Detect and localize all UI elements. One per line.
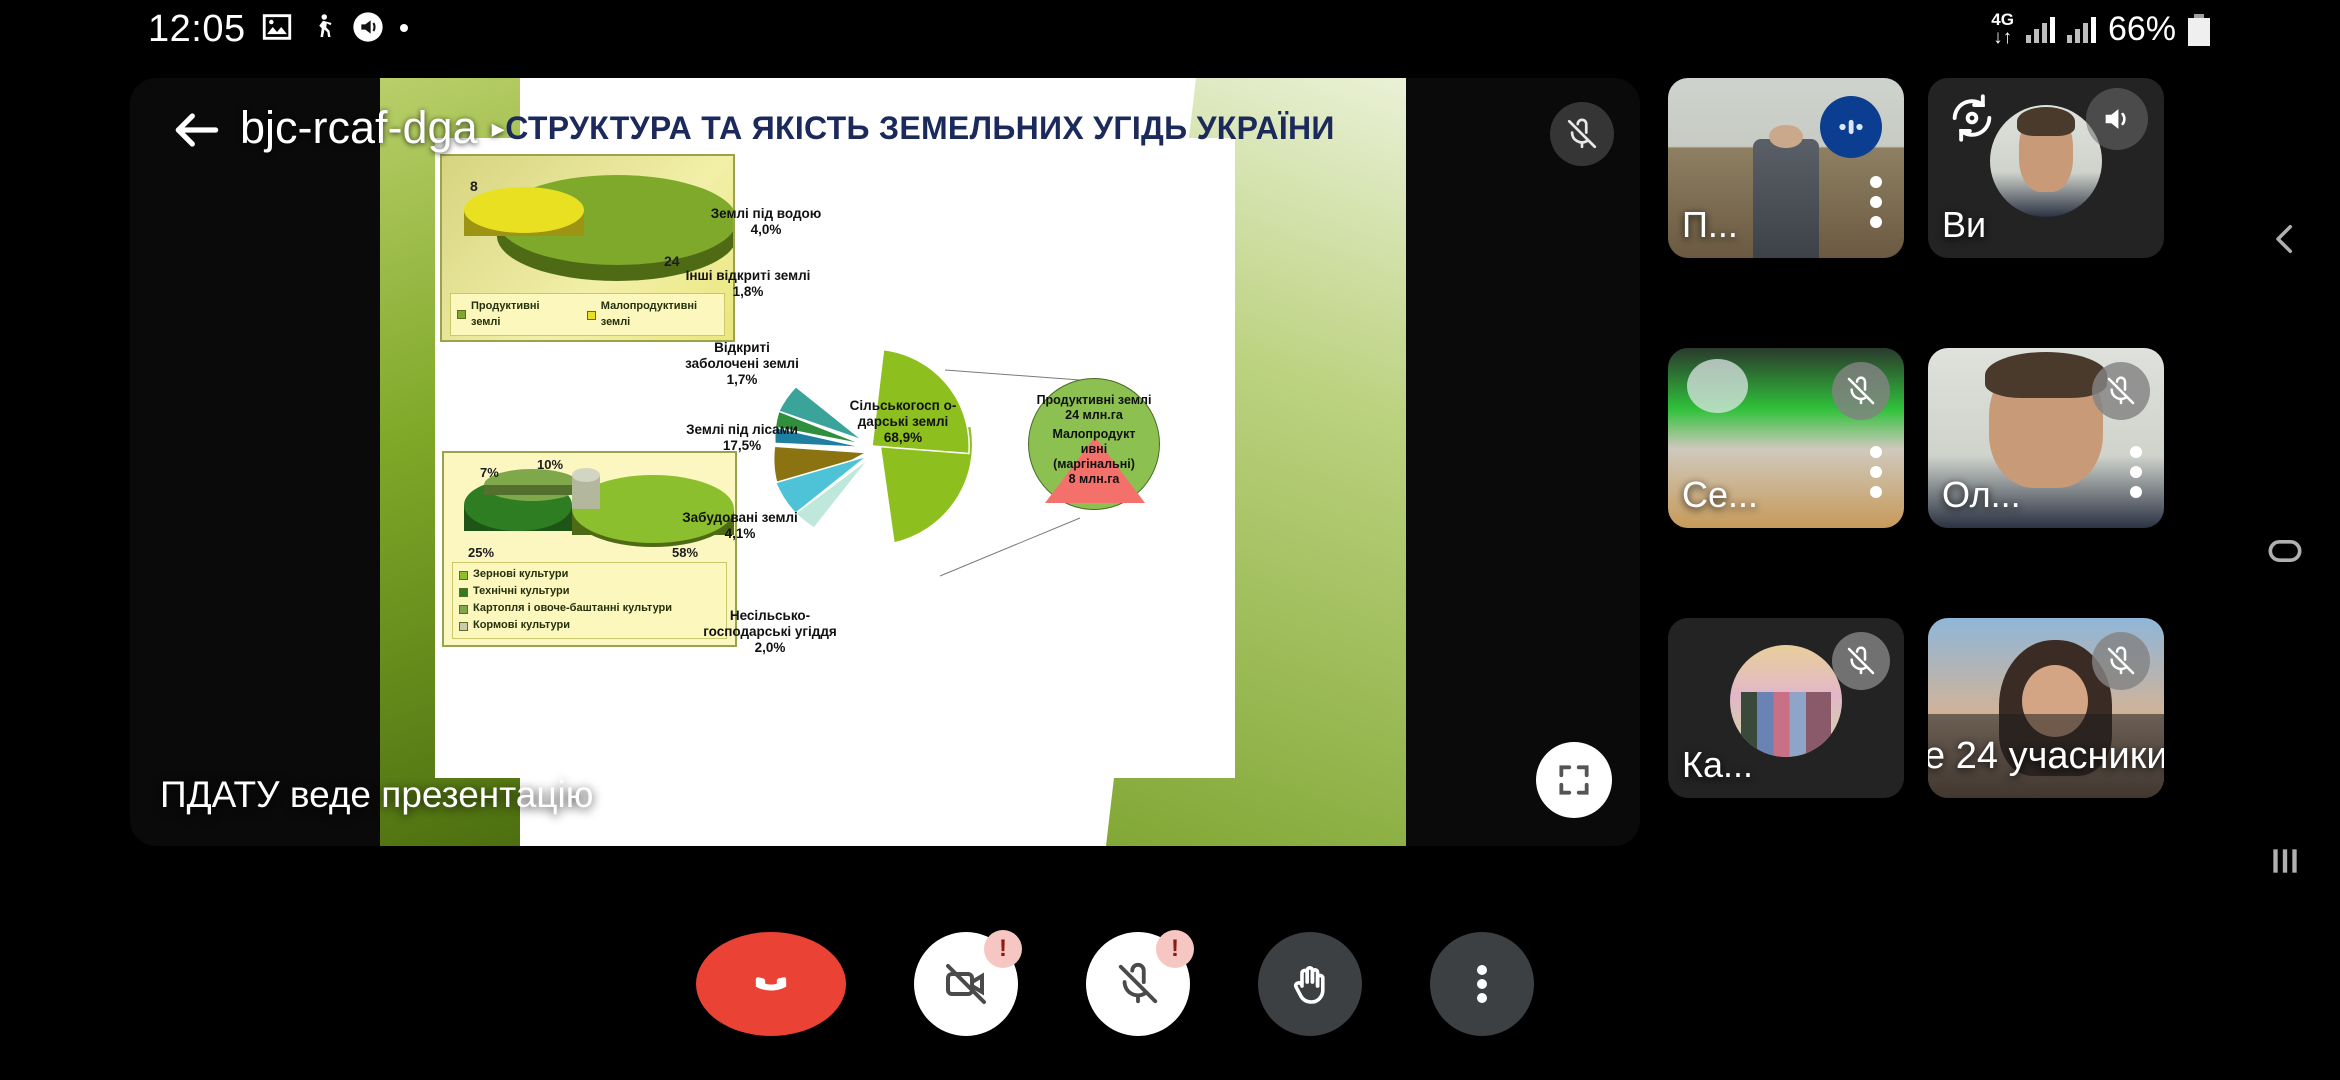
chart1-value-high: 24 (664, 253, 680, 269)
chart-productive-lands: 8 24 Продуктивні землі Малопродуктивні з… (440, 154, 735, 342)
legend-swatch (459, 622, 468, 631)
stage-mic-off-icon (1550, 102, 1614, 166)
callout-marginal: Малопродукт ивні (маргінальні) 8 млн.га (1029, 427, 1159, 487)
status-bar-right: 4G ↓↑ 66% (1991, 10, 2210, 49)
callout-marginal-l2: ивні (1081, 442, 1107, 456)
callout-marginal-value: 8 млн.га (1069, 472, 1120, 486)
call-controls: ! ! (0, 932, 2230, 1036)
pie-label-text: Несільсько-господарські угіддя (703, 608, 837, 639)
more-options-button[interactable] (1430, 932, 1534, 1036)
callout-circle: Продуктивні землі 24 млн.га Малопродукт … (1028, 378, 1160, 510)
slide-title: СТРУКТУРА ТА ЯКІСТЬ ЗЕМЕЛЬНИХ УГІДЬ УКРА… (440, 110, 1400, 147)
participant-name: Ол... (1942, 474, 2021, 516)
running-person-icon (308, 10, 338, 49)
mic-warning-badge: ! (1156, 930, 1194, 968)
nav-back-icon[interactable] (2254, 208, 2316, 270)
participant-grid: П... Ви Се... (1668, 78, 2200, 868)
pie-label-value: 1,8% (733, 284, 764, 299)
callout-productive: Продуктивні землі 24 млн.га (1029, 393, 1159, 423)
chart2-legend: Зернові культури Технічні культури Карто… (452, 562, 727, 639)
signal-bars-sim1 (2026, 17, 2055, 43)
pie-label-text: Сільськогосп о-дарські землі (850, 398, 957, 429)
legend-item: Зернові культури (459, 567, 720, 583)
pie-label-agricultural: Сільськогосп о-дарські землі 68,9% (848, 398, 958, 446)
legend-label: Продуктивні землі (471, 299, 563, 331)
chart2-value-10: 10% (537, 457, 563, 472)
tile-more-button[interactable] (1870, 176, 1882, 228)
legend-label: Кормові культури (473, 618, 570, 634)
participant-name: Ка... (1682, 744, 1753, 786)
presenter-status: ПДАТУ веде презентацію (160, 774, 594, 816)
android-navigation-bar (2230, 0, 2340, 1080)
participant-tile[interactable]: П... (1668, 78, 1904, 258)
participant-name: Се... (1682, 474, 1758, 516)
mic-toggle-button[interactable]: ! (1086, 932, 1190, 1036)
volume-icon (352, 11, 384, 48)
tile-more-button[interactable] (1870, 446, 1882, 498)
image-icon (260, 10, 294, 49)
legend-item: Картопля і овоче-баштанні культури (459, 601, 720, 617)
pie-label-water: Землі під водою 4,0% (706, 206, 826, 238)
participant-name: П... (1682, 204, 1738, 246)
legend-swatch (457, 310, 466, 319)
tile-more-button[interactable] (2130, 446, 2142, 498)
raise-hand-button[interactable] (1258, 932, 1362, 1036)
legend-item: Продуктивні землі (457, 298, 563, 331)
speaker-icon[interactable] (2086, 88, 2148, 150)
mic-off-icon (2092, 362, 2150, 420)
camera-toggle-button[interactable]: ! (914, 932, 1018, 1036)
chevron-right-icon: ▸ (492, 113, 505, 144)
avatar (1730, 645, 1842, 757)
mic-off-icon (1832, 362, 1890, 420)
status-bar-left: 12:05 (148, 8, 410, 51)
callout-productive-label: Продуктивні землі (1037, 393, 1152, 407)
participant-tile[interactable]: Ол... (1928, 348, 2164, 528)
legend-label: Технічні культури (473, 584, 569, 600)
battery-percent: 66% (2108, 10, 2176, 49)
legend-label: Малопродуктивні землі (601, 299, 718, 331)
pie-label-text: Забудовані землі (682, 510, 798, 525)
dot-icon (398, 21, 410, 39)
flip-camera-icon[interactable] (1946, 92, 1998, 149)
legend-item: Технічні культури (459, 584, 720, 600)
more-participants-overlay[interactable]: Ще 24 учасники (1928, 714, 2164, 798)
shared-screen-stage[interactable]: СТРУКТУРА ТА ЯКІСТЬ ЗЕМЕЛЬНИХ УГІДЬ УКРА… (130, 78, 1640, 846)
participant-name: Ви (1942, 204, 1986, 246)
back-button[interactable] (165, 98, 229, 162)
nav-home-icon[interactable] (2254, 520, 2316, 582)
pie-label-value: 4,0% (751, 222, 782, 237)
callout-marginal-l1: Малопродукт (1052, 427, 1135, 441)
camera-warning-badge: ! (984, 930, 1022, 968)
legend-swatch (587, 311, 596, 320)
callout-productive-value: 24 млн.га (1065, 408, 1123, 422)
pie-label-text: Інші відкриті землі (686, 268, 811, 283)
presentation-slide: СТРУКТУРА ТА ЯКІСТЬ ЗЕМЕЛЬНИХ УГІДЬ УКРА… (380, 78, 1406, 846)
phone-screen: 12:05 4G ↓↑ 66% (0, 0, 2340, 1080)
mic-off-icon (1832, 632, 1890, 690)
chart1-value-low: 8 (470, 178, 478, 194)
pie-label-built: Забудовані землі 4,1% (676, 510, 804, 542)
pie-label-value: 2,0% (755, 640, 786, 655)
more-participants-label: Ще 24 учасники (1928, 735, 2164, 778)
participant-tile-self[interactable]: Ви (1928, 78, 2164, 258)
mic-off-icon (2092, 632, 2150, 690)
status-clock: 12:05 (148, 8, 246, 51)
meeting-title[interactable]: bjc-rcaf-dga ▸ (240, 102, 505, 154)
legend-item: Кормові культури (459, 618, 720, 634)
pie-label-value: 4,1% (725, 526, 756, 541)
presenting-badge-icon (1820, 96, 1882, 158)
chart2-value-25: 25% (468, 545, 494, 560)
pie-label-text: Землі під водою (711, 206, 822, 221)
legend-label: Зернові культури (473, 567, 568, 583)
legend-swatch (459, 605, 468, 614)
signal-bars-sim2 (2067, 17, 2096, 43)
pie-label-marsh: Відкриті заболочені землі 1,7% (678, 340, 806, 388)
participant-tile[interactable]: Ка... (1668, 618, 1904, 798)
legend-swatch (459, 588, 468, 597)
pie-label-other-open: Інші відкриті землі 1,8% (680, 268, 816, 300)
pie-label-text: Землі під лісами (686, 422, 798, 437)
legend-item: Малопродуктивні землі (587, 299, 718, 331)
legend-label: Картопля і овоче-баштанні культури (473, 601, 672, 617)
callout-marginal-l3: (маргінальні) (1053, 457, 1135, 471)
end-call-button[interactable] (696, 932, 846, 1036)
chart2-value-7: 7% (480, 465, 499, 480)
legend-swatch (459, 571, 468, 580)
fullscreen-button[interactable] (1536, 742, 1612, 818)
nav-recents-icon[interactable] (2254, 830, 2316, 892)
participant-tile[interactable]: Ще 24 учасники (1928, 618, 2164, 798)
pie-label-nonagricultural: Несільсько-господарські угіддя 2,0% (692, 608, 848, 656)
participant-tile[interactable]: Се... (1668, 348, 1904, 528)
battery-icon (2188, 14, 2210, 46)
network-type: 4G ↓↑ (1991, 12, 2014, 46)
status-bar: 12:05 4G ↓↑ 66% (0, 0, 2340, 56)
pie-label-value: 1,7% (727, 372, 758, 387)
meeting-title-text: bjc-rcaf-dga (240, 102, 478, 154)
pie-label-value: 68,9% (884, 430, 922, 445)
pie-label-text: Відкриті заболочені землі (685, 340, 799, 371)
chart2-value-58: 58% (672, 545, 698, 560)
pie-label-forest: Землі під лісами 17,5% (680, 422, 804, 454)
pie-label-value: 17,5% (723, 438, 761, 453)
